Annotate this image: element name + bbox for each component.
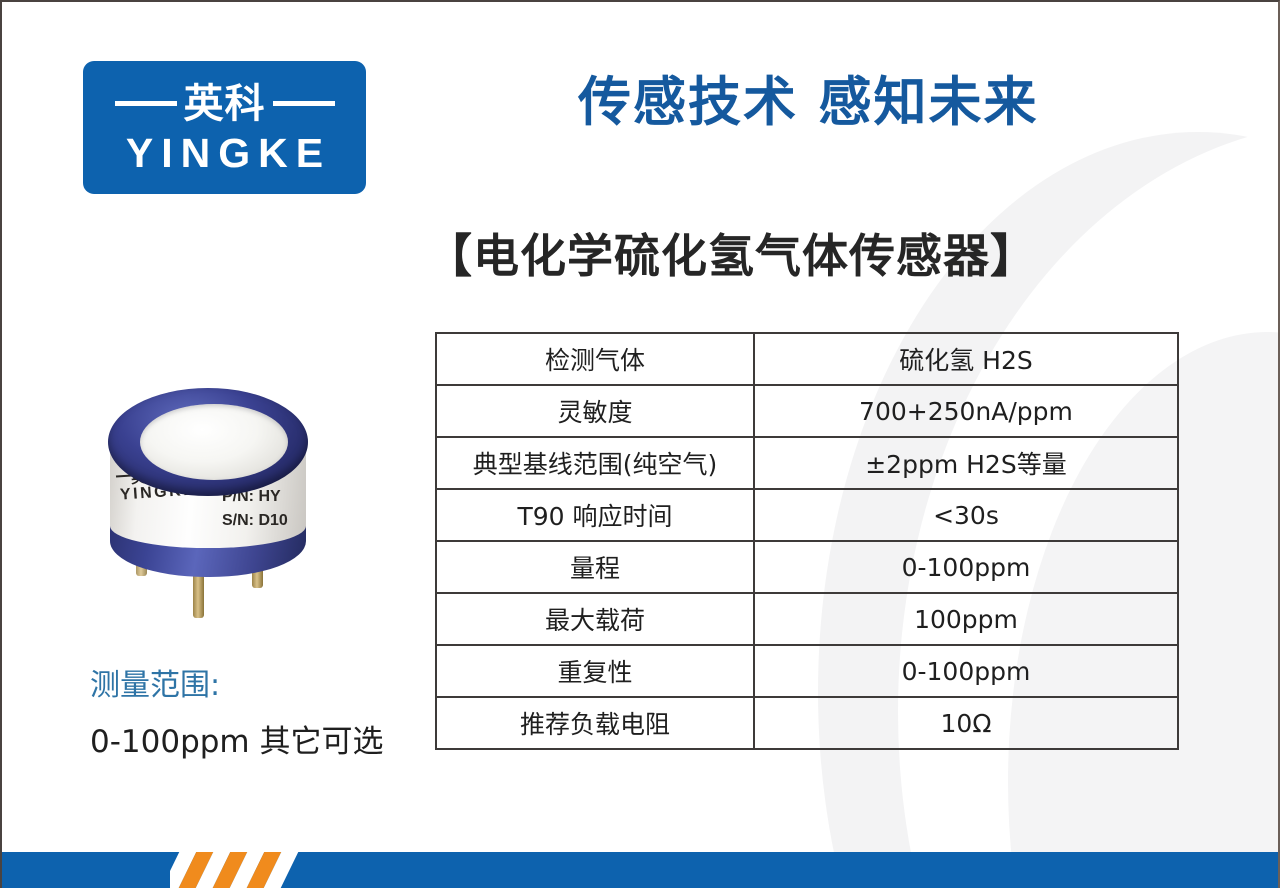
sensor-product-photo: 英科 YINGKE 4H2S- P/N: HY S/N: D10 [102, 382, 324, 632]
table-row: 推荐负载电阻 10Ω [436, 697, 1178, 749]
specification-table: 检测气体 硫化氢 H2S 灵敏度 700+250nA/ppm 典型基线范围(纯空… [435, 332, 1179, 750]
table-row: 灵敏度 700+250nA/ppm [436, 385, 1178, 437]
spec-key: T90 响应时间 [436, 489, 754, 541]
footer-stripe-group [170, 852, 326, 888]
spec-value: ±2ppm H2S等量 [754, 437, 1178, 489]
spec-key: 量程 [436, 541, 754, 593]
spec-key: 推荐负载电阻 [436, 697, 754, 749]
spec-value: 0-100ppm [754, 541, 1178, 593]
logo-rule-right-icon [273, 101, 335, 106]
spec-value: 硫化氢 H2S [754, 333, 1178, 385]
table-row: 量程 0-100ppm [436, 541, 1178, 593]
sensor-pin-front-icon [193, 572, 204, 618]
table-row: 重复性 0-100ppm [436, 645, 1178, 697]
spec-key: 最大载荷 [436, 593, 754, 645]
spec-key: 灵敏度 [436, 385, 754, 437]
spec-value: 100ppm [754, 593, 1178, 645]
table-row: T90 响应时间 <30s [436, 489, 1178, 541]
specification-table-body: 检测气体 硫化氢 H2S 灵敏度 700+250nA/ppm 典型基线范围(纯空… [436, 333, 1178, 749]
header-tagline: 传感技术 感知未来 [578, 60, 1038, 136]
page-title: 【电化学硫化氢气体传感器】 [426, 220, 1037, 286]
footer-bar [2, 852, 1278, 888]
spec-key: 典型基线范围(纯空气) [436, 437, 754, 489]
brand-logo-cn: 英科 [184, 84, 266, 124]
measurement-range-value: 0-100ppm 其它可选 [90, 716, 384, 761]
spec-key: 检测气体 [436, 333, 754, 385]
table-row: 检测气体 硫化氢 H2S [436, 333, 1178, 385]
spec-key: 重复性 [436, 645, 754, 697]
spec-value: 700+250nA/ppm [754, 385, 1178, 437]
swoosh-shape-1 [708, 2, 1278, 342]
table-row: 典型基线范围(纯空气) ±2ppm H2S等量 [436, 437, 1178, 489]
sensor-label-serial-number: S/N: D10 [222, 512, 288, 530]
table-row: 最大载荷 100ppm [436, 593, 1178, 645]
spec-value: 10Ω [754, 697, 1178, 749]
spec-value: 0-100ppm [754, 645, 1178, 697]
brand-logo: 英科 YINGKE [83, 61, 366, 194]
sensor-membrane [140, 404, 288, 480]
poster-page: 英科 YINGKE 传感技术 感知未来 【电化学硫化氢气体传感器】 检测气体 硫… [0, 0, 1280, 888]
spec-value: <30s [754, 489, 1178, 541]
logo-rule-left-icon [115, 101, 177, 106]
sensor-top-rim [108, 388, 308, 496]
brand-logo-cn-row: 英科 [115, 84, 335, 124]
brand-logo-en: YINGKE [126, 133, 331, 174]
measurement-range-label: 测量范围: [90, 660, 220, 704]
